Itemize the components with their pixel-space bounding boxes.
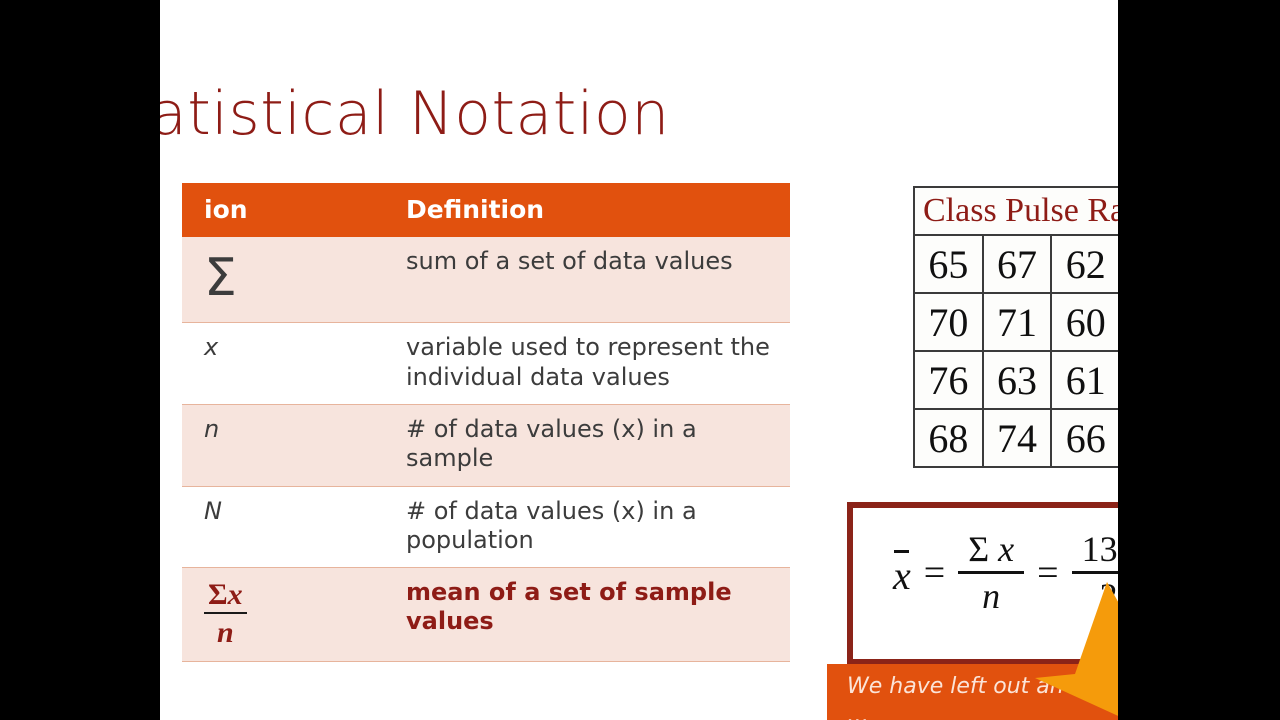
letterbox-bar-right [1118, 0, 1280, 720]
pulse-cell: 70 [914, 293, 983, 351]
note-banner-line2: … [847, 701, 1118, 720]
equals-sign: = [924, 551, 945, 595]
mean-formula: x = Σ x n = 1363 20 = 6 [893, 530, 1118, 616]
table-row: x variable used to represent the individ… [182, 323, 790, 405]
table-header-row: ion Definition [182, 183, 790, 237]
fraction-numerator: Σ x [958, 530, 1024, 574]
statistical-notation-table: ion Definition Σ sum of a set of data va… [182, 183, 790, 662]
table-row: N # of data values (x) in a population [182, 486, 790, 568]
notation-definition: # of data values (x) in a sample [384, 404, 790, 486]
mean-formula-box: x = Σ x n = 1363 20 = 6 [847, 502, 1118, 665]
slide-content: atistical Notation ion Definition Σ sum [160, 0, 1118, 720]
pulse-title-row: Class Pulse Rate D [914, 187, 1118, 235]
table-row: n # of data values (x) in a sample [182, 404, 790, 486]
total-over-count-fraction: 1363 20 [1072, 530, 1118, 616]
x-glyph: x [228, 578, 243, 611]
note-banner-line1: We have left out an im [847, 672, 1118, 701]
pulse-cell: 76 [914, 351, 983, 409]
note-banner: We have left out an im … [827, 664, 1118, 720]
notation-definition: mean of a set of sample values [384, 568, 790, 662]
fraction-denominator: n [204, 614, 247, 649]
table-row: 70 71 60 73 [914, 293, 1118, 351]
table-row: 68 74 66 75 [914, 409, 1118, 467]
pulse-cell: 61 [1051, 351, 1118, 409]
fraction-denominator: 20 [1072, 574, 1118, 616]
page-title: atistical Notation [160, 84, 670, 144]
pulse-cell: 67 [983, 235, 1052, 293]
notation-symbol-x: x [182, 323, 384, 405]
table-row: 76 63 61 72 [914, 351, 1118, 409]
equals-sign: = [1037, 551, 1058, 595]
fraction: Σx n [204, 578, 247, 649]
pulse-cell: 68 [914, 409, 983, 467]
pulse-cell: 62 [1051, 235, 1118, 293]
x-glyph: x [998, 529, 1014, 569]
pulse-cell: 60 [1051, 293, 1118, 351]
video-frame: atistical Notation ion Definition Σ sum [0, 0, 1280, 720]
column-header-symbol: ion [182, 183, 384, 237]
fraction-denominator: n [958, 574, 1024, 616]
notation-definition: sum of a set of data values [384, 237, 790, 323]
table-row: 65 67 62 68 [914, 235, 1118, 293]
notation-symbol-sigma: Σ [182, 237, 384, 323]
sigma-glyph: Σ [208, 578, 228, 611]
column-header-definition: Definition [384, 183, 790, 237]
notation-symbol-n: n [182, 404, 384, 486]
fraction-numerator: Σx [204, 578, 247, 614]
notation-symbol-mean-fraction: Σx n [182, 568, 384, 662]
pulse-cell: 65 [914, 235, 983, 293]
pulse-rate-table: Class Pulse Rate D 65 67 62 68 70 [913, 186, 1118, 468]
notation-symbol-N: N [182, 486, 384, 568]
pulse-table-title: Class Pulse Rate D [914, 187, 1118, 235]
x-bar-symbol: x [893, 546, 911, 599]
slide-canvas: atistical Notation ion Definition Σ sum [160, 0, 1118, 720]
sum-over-n-fraction: Σ x n [958, 530, 1024, 616]
table-row: Σ sum of a set of data values [182, 237, 790, 323]
pulse-cell: 74 [983, 409, 1052, 467]
notation-definition: # of data values (x) in a population [384, 486, 790, 568]
sigma-glyph: Σ [204, 248, 237, 308]
fraction-numerator: 1363 [1072, 530, 1118, 574]
pulse-cell: 66 [1051, 409, 1118, 467]
pulse-cell: 63 [983, 351, 1052, 409]
pulse-cell: 71 [983, 293, 1052, 351]
notation-definition: variable used to represent the individua… [384, 323, 790, 405]
table-row: Σx n mean of a set of sample values [182, 568, 790, 662]
sigma-glyph: Σ [968, 529, 989, 569]
letterbox-bar-left [0, 0, 160, 720]
class-pulse-rate-data-block: Class Pulse Rate D 65 67 62 68 70 [913, 186, 1118, 468]
